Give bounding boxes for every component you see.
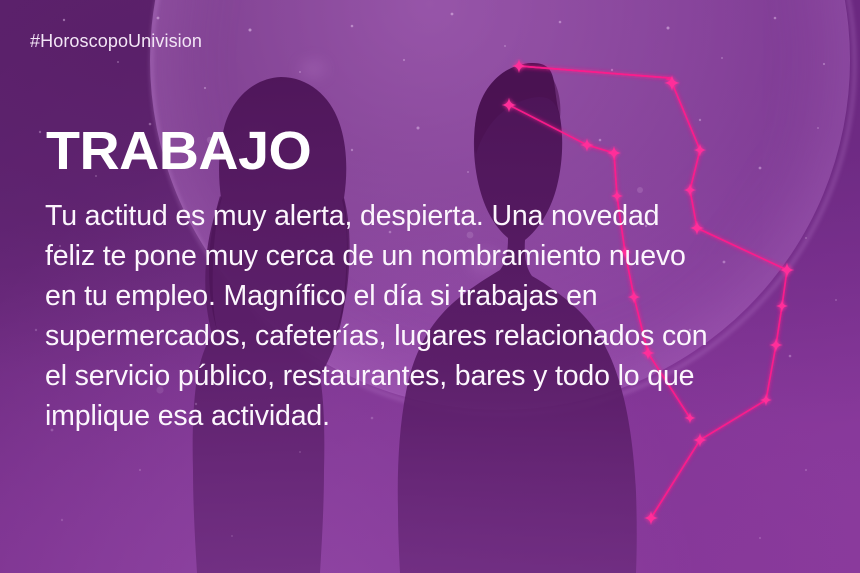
body-line: Tu actitud es muy alerta, despierta. Una…	[45, 196, 835, 236]
hashtag-label: #HoroscopoUnivision	[30, 31, 202, 52]
body-line: implique esa actividad.	[45, 396, 835, 436]
card-content: #HoroscopoUnivision TRABAJO Tu actitud e…	[0, 0, 860, 573]
horoscope-body-text: Tu actitud es muy alerta, despierta. Una…	[45, 196, 835, 436]
body-line: feliz te pone muy cerca de un nombramien…	[45, 236, 835, 276]
body-line: supermercados, cafeterías, lugares relac…	[45, 316, 835, 356]
body-line: en tu empleo. Magnífico el día si trabaj…	[45, 276, 835, 316]
body-line: el servicio público, restaurantes, bares…	[45, 356, 835, 396]
page-title: TRABAJO	[46, 122, 311, 180]
horoscope-card: #HoroscopoUnivision TRABAJO Tu actitud e…	[0, 0, 860, 573]
